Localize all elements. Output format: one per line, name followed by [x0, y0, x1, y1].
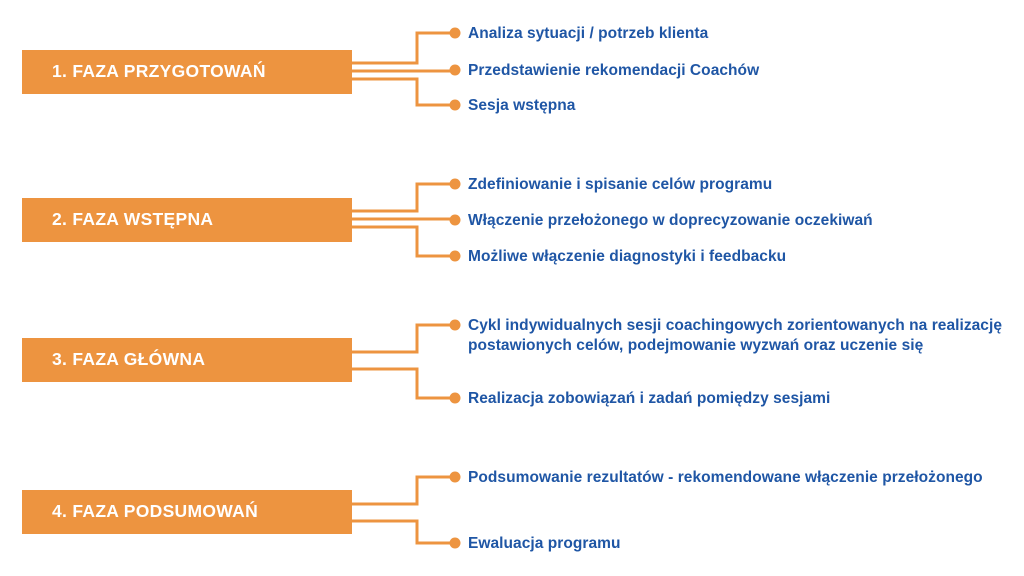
- process-diagram: 1. FAZA PRZYGOTOWAŃ2. FAZA WSTĘPNA3. FAZ…: [0, 0, 1024, 576]
- phase-box-3[interactable]: 3. FAZA GŁÓWNA: [22, 338, 352, 382]
- phase-item-text: Analiza sytuacji / potrzeb klienta: [468, 24, 708, 44]
- connector-line: [352, 33, 452, 63]
- bullet-dot-icon: [450, 100, 461, 111]
- connector-paths: [352, 33, 452, 543]
- bullet-dot-icon: [450, 65, 461, 76]
- phase-label: 4. FAZA PODSUMOWAŃ: [52, 503, 258, 521]
- phase-box-4[interactable]: 4. FAZA PODSUMOWAŃ: [22, 490, 352, 534]
- phase-label: 1. FAZA PRZYGOTOWAŃ: [52, 63, 266, 81]
- connector-line: [352, 369, 452, 398]
- phase-label: 2. FAZA WSTĘPNA: [52, 211, 213, 229]
- phase-item-text: Przedstawienie rekomendacji Coachów: [468, 61, 759, 81]
- bullet-dot-icon: [450, 538, 461, 549]
- bullet-dot-icon: [450, 215, 461, 226]
- phase-item-text: Sesja wstępna: [468, 96, 575, 116]
- phase-item-text: Możliwe włączenie diagnostyki i feedback…: [468, 247, 786, 267]
- phase-item-text: Włączenie przełożonego w doprecyzowanie …: [468, 211, 873, 231]
- phase-box-1[interactable]: 1. FAZA PRZYGOTOWAŃ: [22, 50, 352, 94]
- bullet-dot-icon: [450, 320, 461, 331]
- bullet-dot-icon: [450, 472, 461, 483]
- bullet-dot-icon: [450, 251, 461, 262]
- phase-item-text: Cykl indywidualnych sesji coachingowych …: [468, 316, 1010, 356]
- connector-line: [352, 477, 452, 504]
- bullet-dot-icon: [450, 179, 461, 190]
- connector-bullets: [450, 28, 461, 549]
- connector-line: [352, 521, 452, 543]
- phase-label: 3. FAZA GŁÓWNA: [52, 351, 205, 369]
- bullet-dot-icon: [450, 28, 461, 39]
- bullet-dot-icon: [450, 393, 461, 404]
- connector-line: [352, 325, 452, 352]
- phase-item-text: Realizacja zobowiązań i zadań pomiędzy s…: [468, 389, 830, 409]
- connector-line: [352, 184, 452, 211]
- phase-item-text: Ewaluacja programu: [468, 534, 621, 554]
- phase-box-2[interactable]: 2. FAZA WSTĘPNA: [22, 198, 352, 242]
- phase-item-text: Zdefiniowanie i spisanie celów programu: [468, 175, 772, 195]
- connector-line: [352, 227, 452, 256]
- connector-line: [352, 79, 452, 105]
- phase-item-text: Podsumowanie rezultatów - rekomendowane …: [468, 468, 983, 488]
